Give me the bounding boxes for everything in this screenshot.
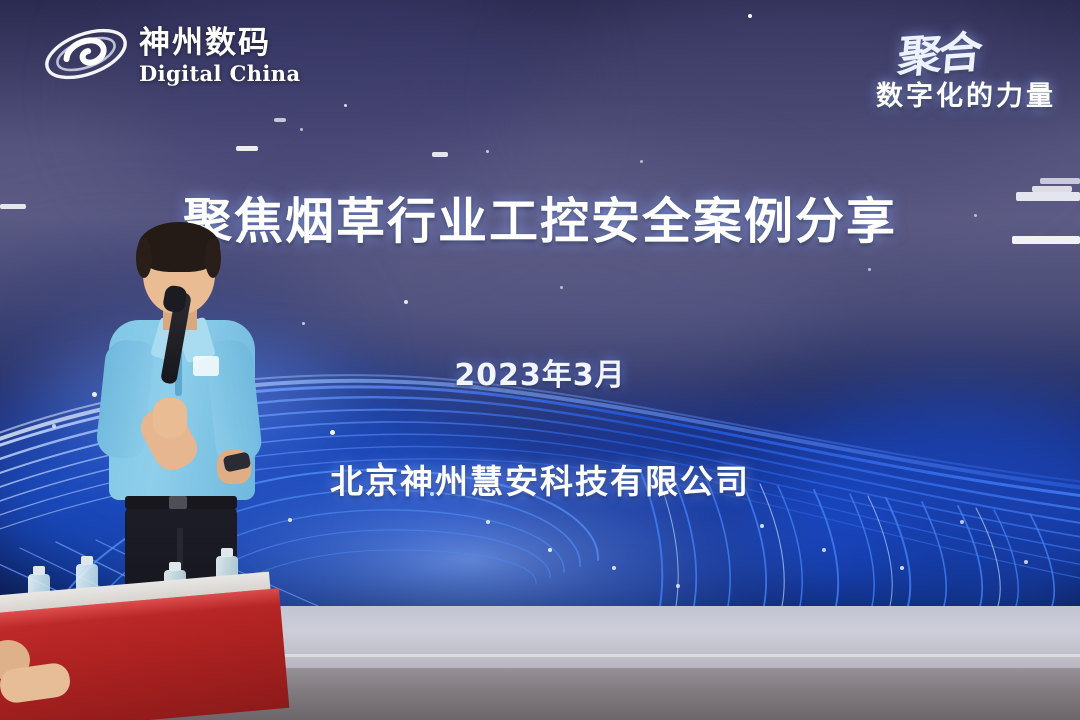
- stage-photo: 聚焦烟草行业工控安全案例分享 2023年3月 北京神州慧安科技有限公司 神州数码…: [0, 0, 1080, 720]
- presenter-belt-buckle: [169, 496, 187, 509]
- presenter-hair-side: [205, 238, 221, 278]
- brand-name-english: Digital China: [139, 63, 300, 84]
- digital-china-wordmark: 神州数码 Digital China: [139, 24, 300, 84]
- brand-name-chinese: 神州数码: [139, 28, 300, 59]
- digital-china-logo: 神州数码 Digital China: [42, 18, 300, 90]
- slogan-calligraphy: 聚合: [895, 16, 981, 85]
- event-slogan: 聚合 数字化的力量: [876, 16, 1056, 113]
- digital-china-swirl-icon: [42, 18, 130, 90]
- seated-attendee: [0, 640, 72, 720]
- presenter-chest-logo: [193, 356, 219, 376]
- presenter-hand-holding-mic: [153, 398, 187, 438]
- presenter-hair-side: [136, 238, 152, 278]
- presenter: [95, 228, 270, 606]
